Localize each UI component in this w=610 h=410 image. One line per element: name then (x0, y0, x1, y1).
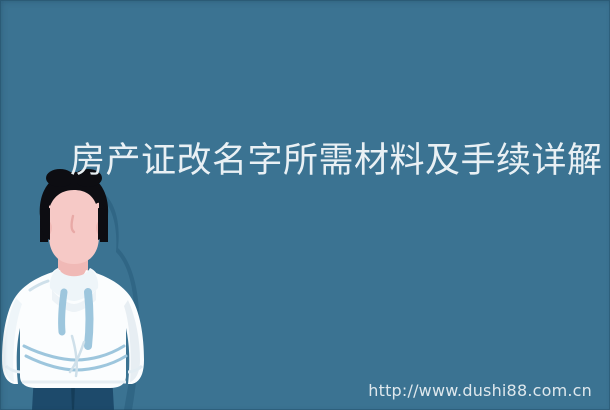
watermark-url: http://www.dushi88.com.cn (368, 381, 592, 400)
cover-image-canvas: 房产证改名字所需材料及手续详解 http://www.dushi88.com.c… (0, 0, 610, 410)
page-title: 房产证改名字所需材料及手续详解 (70, 140, 562, 182)
hoodie (2, 268, 144, 388)
person-illustration (0, 160, 150, 410)
